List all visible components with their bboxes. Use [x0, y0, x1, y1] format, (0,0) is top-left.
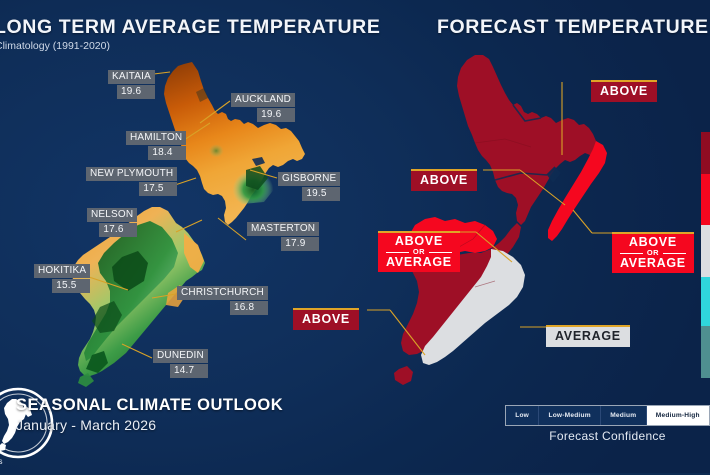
scale-swatch-2 [701, 225, 710, 277]
outlook-title: SEASONAL CLIMATE OUTLOOK [16, 396, 283, 415]
outlook-period: January - March 2026 [16, 417, 283, 433]
callout-line-1: ABOVE [600, 85, 648, 98]
scale-swatch-1 [701, 174, 710, 226]
forecast-callout-east-south-average: AVERAGE [546, 325, 630, 347]
temperature-scale-strip [701, 132, 710, 378]
forecast-callout-east-above-or-average: ABOVE OR AVERAGE [612, 232, 694, 273]
callout-line-1: AVERAGE [555, 330, 621, 343]
confidence-level-low[interactable]: Low [506, 406, 539, 425]
forecast-callout-west-above: ABOVE [411, 169, 477, 191]
forecast-callout-nelson-above-or-average: ABOVE OR AVERAGE [378, 231, 460, 272]
forecast-callout-north-above: ABOVE [591, 80, 657, 102]
logo-caption-line-2: Zealand [0, 466, 2, 475]
callout-line-1: ABOVE [302, 313, 350, 326]
branding-block: Sciences Zealand SEASONAL CLIMATE OUTLOO… [0, 383, 312, 473]
confidence-legend-label: Forecast Confidence [505, 429, 710, 443]
callout-line-2: AVERAGE [386, 256, 452, 269]
confidence-level-low-medium[interactable]: Low-Medium [539, 406, 601, 425]
scale-swatch-0 [701, 132, 710, 174]
forecast-callout-west-south-above: ABOVE [293, 308, 359, 330]
logo-caption-line-1: Sciences [0, 457, 2, 466]
branding-text: SEASONAL CLIMATE OUTLOOK January - March… [16, 396, 283, 433]
infographic-root: LONG TERM AVERAGE TEMPERATURE Climatolog… [0, 0, 710, 473]
scale-swatch-4 [701, 326, 710, 378]
callout-line-1: ABOVE [420, 174, 468, 187]
callout-line-2: AVERAGE [620, 257, 686, 270]
forecast-confidence-legend: Low Low-Medium Medium Medium-High Foreca… [505, 405, 710, 443]
scale-swatch-3 [701, 277, 710, 326]
confidence-level-medium-high[interactable]: Medium-High [647, 406, 709, 425]
confidence-level-medium[interactable]: Medium [601, 406, 647, 425]
confidence-scale[interactable]: Low Low-Medium Medium Medium-High [505, 405, 710, 426]
logo-caption: Sciences Zealand [0, 457, 2, 475]
